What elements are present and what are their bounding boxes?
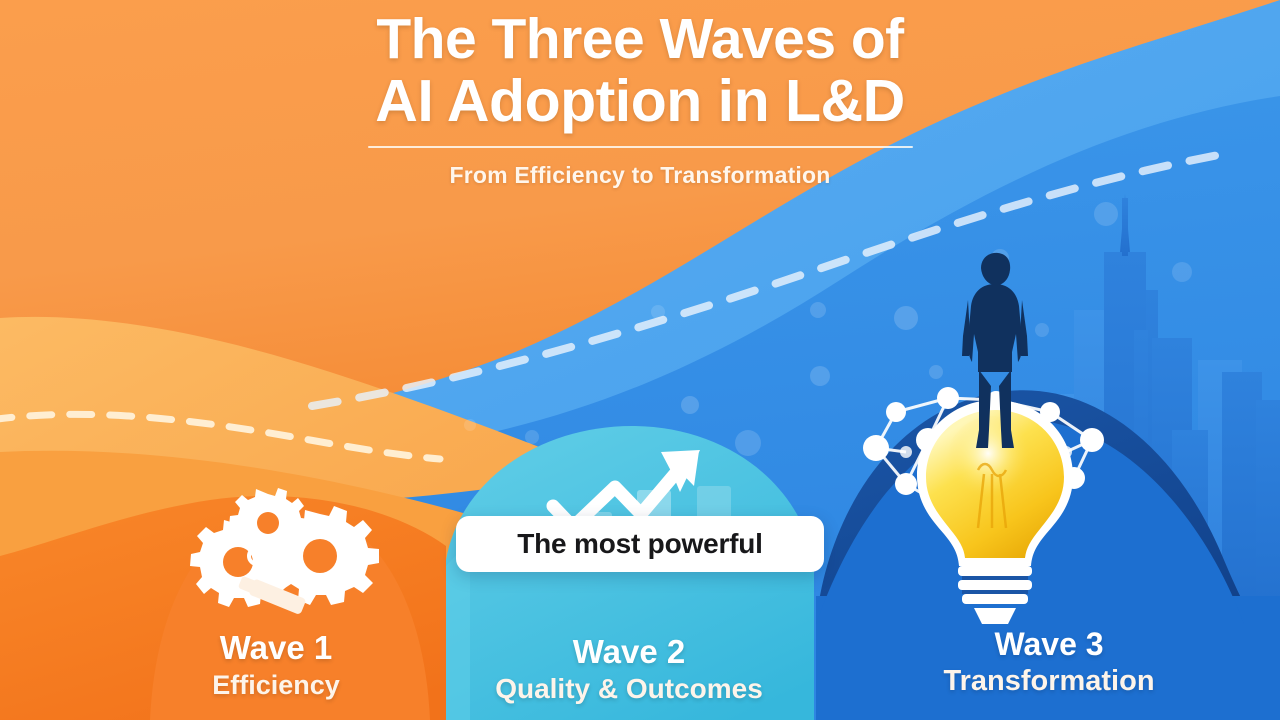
wave-2-hill <box>446 426 814 720</box>
background-art <box>0 0 1280 720</box>
infographic-canvas: The Three Waves of AI Adoption in L&D Fr… <box>0 0 1280 720</box>
callout-box[interactable]: The most powerful <box>456 516 824 572</box>
callout-text: The most powerful <box>517 528 763 560</box>
